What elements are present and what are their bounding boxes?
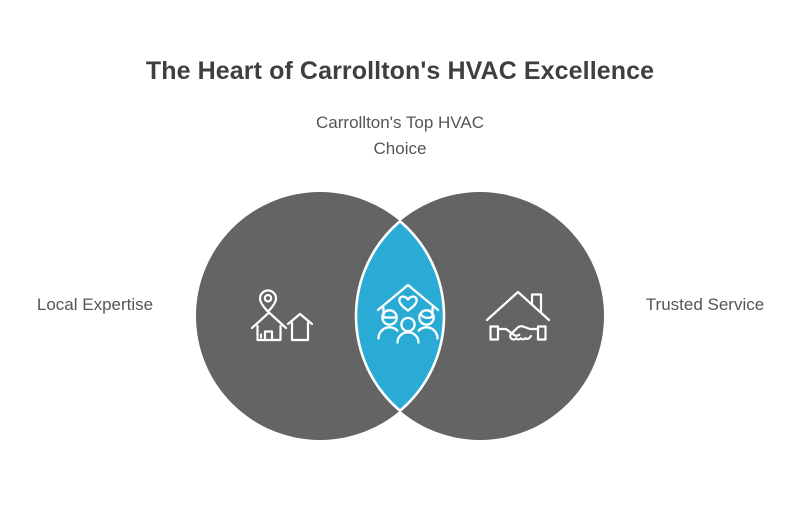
house-heart-family-icon: [373, 277, 443, 347]
venn-diagram: [0, 0, 800, 526]
location-pin-houses-icon: [248, 282, 318, 352]
roof-handshake-icon: [483, 282, 553, 352]
infographic-canvas: The Heart of Carrollton's HVAC Excellenc…: [0, 0, 800, 526]
